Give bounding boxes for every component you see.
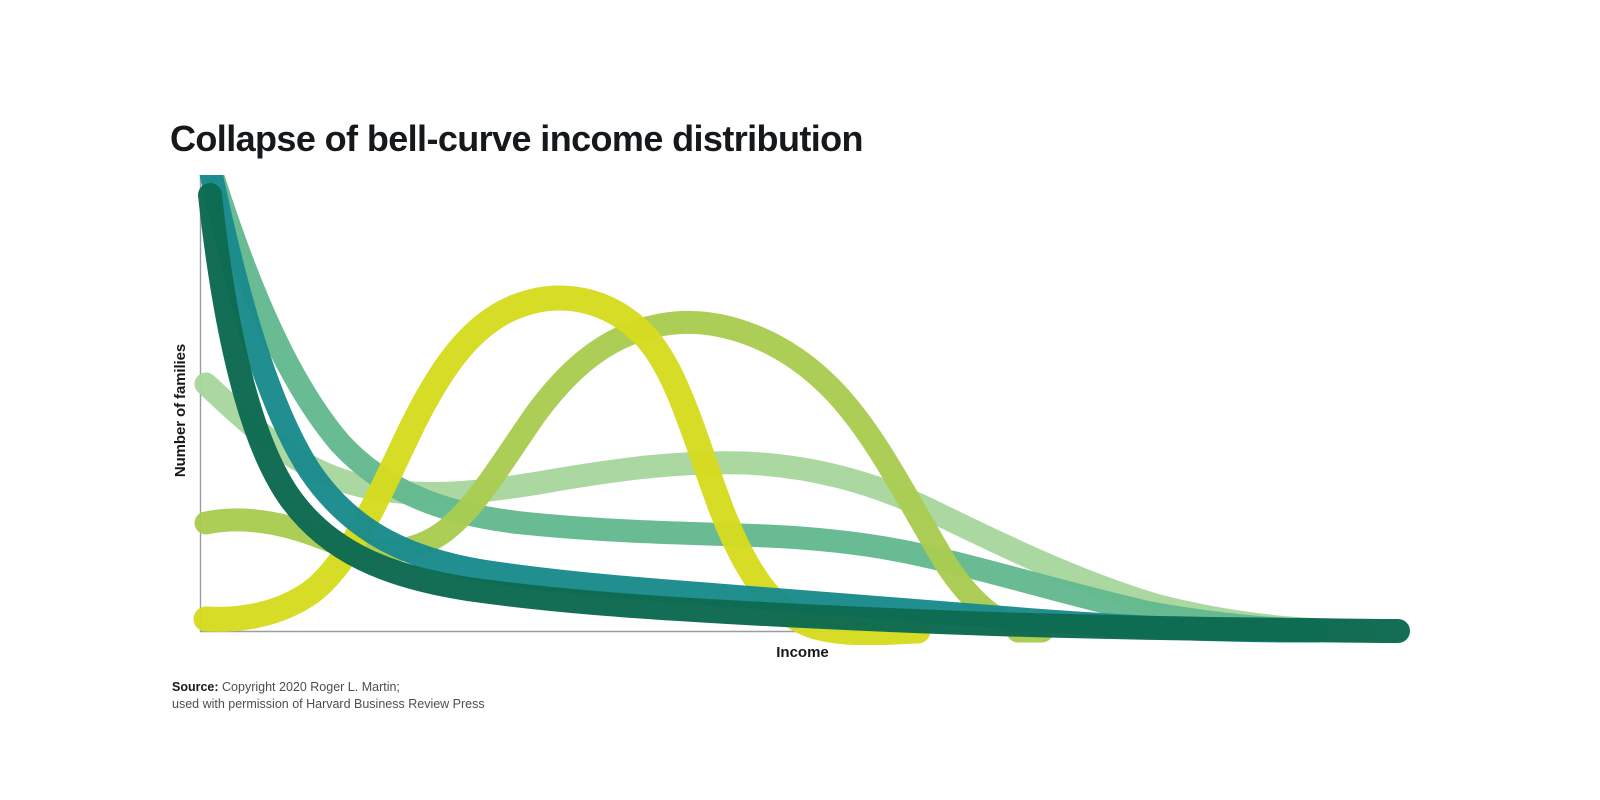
source-label: Source: bbox=[172, 680, 219, 694]
distribution-curves-svg bbox=[170, 175, 1430, 645]
plot-area bbox=[170, 175, 1430, 645]
source-text-1: Copyright 2020 Roger L. Martin; bbox=[222, 680, 400, 694]
page-title: Collapse of bell-curve income distributi… bbox=[170, 118, 863, 160]
x-axis-label: Income bbox=[200, 644, 1405, 661]
source-line-1: Source: Copyright 2020 Roger L. Martin; bbox=[172, 679, 485, 696]
curve-dark-green-power-law bbox=[210, 195, 1398, 631]
source-note: Source: Copyright 2020 Roger L. Martin; … bbox=[172, 679, 485, 713]
source-line-2: used with permission of Harvard Business… bbox=[172, 696, 485, 713]
chart-figure: Collapse of bell-curve income distributi… bbox=[0, 0, 1600, 800]
